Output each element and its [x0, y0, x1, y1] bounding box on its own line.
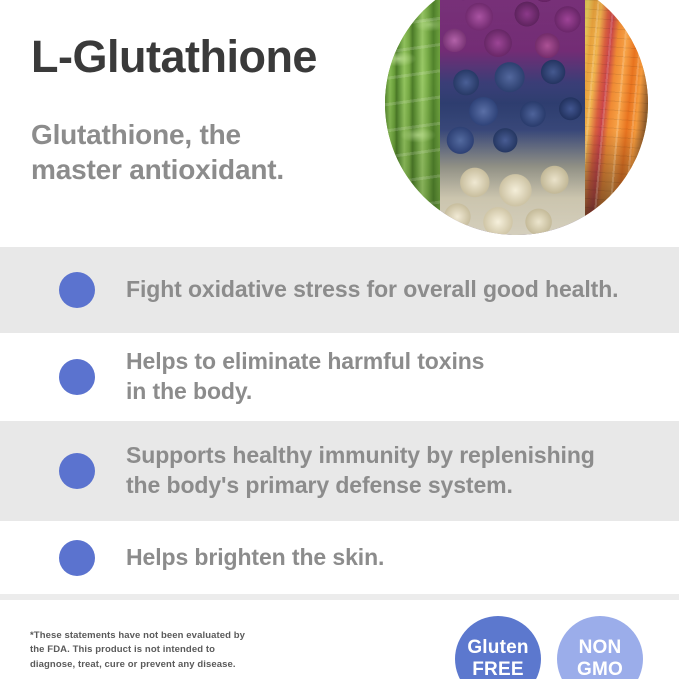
fda-disclaimer: *These statements have not been evaluate… — [30, 629, 265, 672]
badge-gluten-free: Gluten FREE — [455, 616, 541, 679]
badge-non-gmo: NON GMO — [557, 616, 643, 679]
page-title: L-Glutathione — [31, 34, 317, 79]
badge-line-2: FREE — [472, 659, 523, 679]
bullet-dot-icon — [59, 359, 95, 395]
list-item: Helps brighten the skin. — [0, 521, 679, 595]
badge-line-2: GMO — [577, 659, 623, 679]
list-item: Supports healthy immunity by replenishin… — [0, 421, 679, 521]
list-item: Fight oxidative stress for overall good … — [0, 247, 679, 333]
footer-section: *These statements have not been evaluate… — [0, 600, 679, 679]
bullet-dot-icon — [59, 272, 95, 308]
badge-line-1: Gluten — [467, 637, 528, 659]
vegetables-circle-image — [385, 0, 648, 235]
bullet-dot-icon — [59, 540, 95, 576]
benefit-text: Helps to eliminate harmful toxins in the… — [126, 347, 484, 407]
benefit-text: Fight oxidative stress for overall good … — [126, 275, 618, 305]
certification-badges: Gluten FREE NON GMO — [455, 616, 643, 679]
benefit-text: Helps brighten the skin. — [126, 543, 384, 573]
header-section: L-Glutathione Glutathione, the master an… — [0, 0, 679, 247]
potatoes-strip — [440, 0, 585, 235]
benefit-text: Supports healthy immunity by replenishin… — [126, 441, 595, 501]
bullet-dot-icon — [59, 453, 95, 489]
asparagus-strip — [385, 0, 440, 235]
list-item: Helps to eliminate harmful toxins in the… — [0, 333, 679, 421]
carrots-strip — [585, 0, 648, 235]
product-infographic: L-Glutathione Glutathione, the master an… — [0, 0, 679, 679]
page-subtitle: Glutathione, the master antioxidant. — [31, 117, 284, 188]
badge-line-1: NON — [579, 637, 622, 659]
benefits-list: Fight oxidative stress for overall good … — [0, 247, 679, 595]
